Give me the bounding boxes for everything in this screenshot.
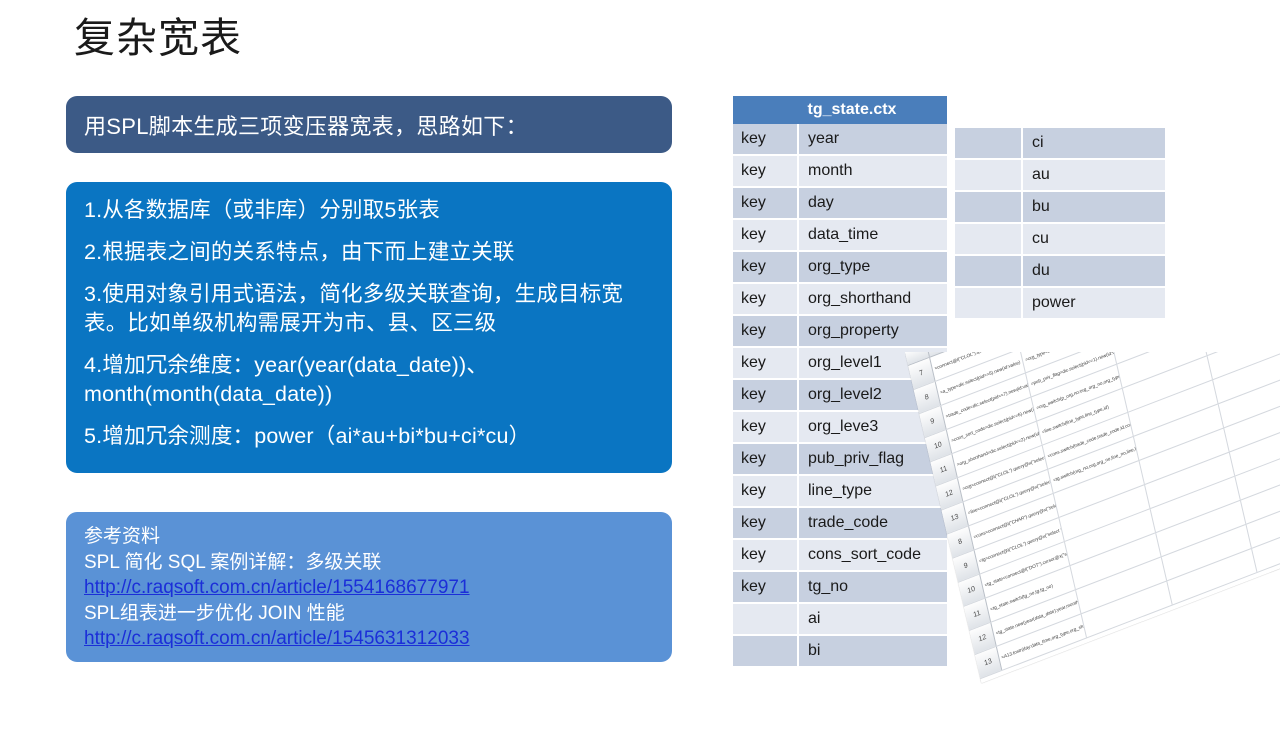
intro-callout: 用SPL脚本生成三项变压器宽表，思路如下： bbox=[66, 96, 672, 153]
cell-field-name: au bbox=[1023, 160, 1165, 190]
spreadsheet-cell bbox=[1060, 485, 1150, 541]
table-row: keydata_time bbox=[733, 220, 947, 252]
cell-key: key bbox=[733, 380, 799, 410]
spreadsheet-cell bbox=[1236, 444, 1280, 500]
spreadsheet-cell bbox=[1208, 352, 1280, 379]
table-row: keyorg_level1 bbox=[733, 348, 947, 380]
table-row: ci bbox=[955, 128, 1165, 160]
step-item-3: 3.使用对象引用式语法，简化多级关联查询，生成目标宽表。比如单级机构需展开为市、… bbox=[84, 280, 654, 338]
spreadsheet-cell bbox=[1202, 352, 1280, 355]
table-row: keyline_type bbox=[733, 476, 947, 508]
spreadsheet-cell: =line.switch(line_type,line_type,id) bbox=[1038, 389, 1128, 445]
step-item-5: 5.增加冗余测度：power（ai*au+bi*bu+ci*cu） bbox=[84, 422, 654, 451]
spreadsheet-cell bbox=[1117, 352, 1207, 388]
page-title: 复杂宽表 bbox=[74, 12, 242, 64]
spreadsheet-row: 13=A13.tostr(day:data_time,org_type,org_… bbox=[975, 483, 1280, 679]
cell-key: key bbox=[733, 220, 799, 250]
spreadsheet-rows: 7=connect@l("CLOL").query@x("select * fr… bbox=[908, 352, 1280, 679]
spreadsheet-row: 12=tg_state.new(year(data_date):year,mon… bbox=[969, 459, 1280, 655]
cell-field-name: pub_priv_flag bbox=[799, 444, 947, 474]
references-callout: 参考资料 SPL 简化 SQL 案例详解：多级关联 http://c.raqso… bbox=[66, 512, 672, 662]
cell-field-name: org_level2 bbox=[799, 380, 947, 410]
cell-key: key bbox=[733, 124, 799, 154]
spreadsheet-row: 9=tg=connect@l("CLOL").query@x("select *… bbox=[953, 387, 1280, 583]
cell-key bbox=[955, 160, 1023, 190]
spreadsheet-row: 10=cons_sort_code=dic.select(pid==6).new… bbox=[925, 352, 1280, 462]
cell-key: key bbox=[733, 508, 799, 538]
table-row: ai bbox=[733, 604, 947, 636]
spreadsheet-cell: =a_type=dic.select(pid==5).new(id:value) bbox=[936, 352, 1026, 405]
schema-table-secondary: ciaubucudupower bbox=[955, 128, 1165, 320]
spreadsheet-cell bbox=[1213, 352, 1280, 403]
schema-table-body: keyyearkeymonthkeydaykeydata_timekeyorg_… bbox=[733, 124, 947, 668]
table-row: cu bbox=[955, 224, 1165, 256]
table-row: keyday bbox=[733, 188, 947, 220]
table-row: keyyear bbox=[733, 124, 947, 156]
cell-field-name: bi bbox=[799, 636, 947, 666]
spreadsheet-row: 10=tg_state=connect@l("DOT").cursor@x("s… bbox=[958, 411, 1280, 607]
spreadsheet-cell bbox=[1071, 533, 1161, 589]
table-row: keymonth bbox=[733, 156, 947, 188]
table-row: keyorg_type bbox=[733, 252, 947, 284]
cell-field-name: cons_sort_code bbox=[799, 540, 947, 570]
spreadsheet-cell bbox=[1219, 371, 1280, 427]
table-row: keyorg_property bbox=[733, 316, 947, 348]
table-row: keycons_sort_code bbox=[733, 540, 947, 572]
table-row: keyorg_shorthand bbox=[733, 284, 947, 316]
cell-field-name: day bbox=[799, 188, 947, 218]
spreadsheet-cell: =tg=connect@l("CLOL").query@x("select * … bbox=[975, 518, 1065, 574]
cell-field-name: cu bbox=[1023, 224, 1165, 254]
spreadsheet-cell: =cons_sort_code=dic.select(pid==6).new(i… bbox=[947, 397, 1037, 453]
spreadsheet-row-header: 11 bbox=[964, 599, 991, 630]
reference-link-1[interactable]: http://c.raqsoft.com.cn/article/15541686… bbox=[84, 575, 654, 601]
spreadsheet-cell bbox=[1162, 525, 1252, 581]
cell-field-name: data_time bbox=[799, 220, 947, 250]
cell-key: key bbox=[733, 540, 799, 570]
spreadsheet-row: 8=cons=connect@l("CHAR").query@x("select… bbox=[947, 363, 1280, 559]
table-row: keytg_no bbox=[733, 572, 947, 604]
spreadsheet-cell: =tg_state=connect@l("DOT").cursor@x("sel… bbox=[980, 542, 1070, 598]
cell-key bbox=[955, 192, 1023, 222]
spreadsheet-cell: =org_shorthand=dic.select(pid==2).new(id… bbox=[952, 421, 1042, 477]
spreadsheet-row: 11=org_shorthand=dic.select(pid==2).new(… bbox=[930, 352, 1280, 486]
cell-key: key bbox=[733, 476, 799, 506]
cell-field-name: bu bbox=[1023, 192, 1165, 222]
spreadsheet-row: 12=org=connect@l("CLOL").query@x("select… bbox=[936, 352, 1280, 511]
cell-key: key bbox=[733, 188, 799, 218]
table-row: bi bbox=[733, 636, 947, 668]
cell-field-name: tg_no bbox=[799, 572, 947, 602]
spreadsheet-row: 7=connect@l("CLOL").query@x("select * fr… bbox=[908, 352, 1280, 390]
cell-field-name: org_level1 bbox=[799, 348, 947, 378]
cell-key: key bbox=[733, 156, 799, 186]
spreadsheet-cell bbox=[1241, 468, 1280, 524]
spreadsheet-row-header: 13 bbox=[975, 647, 1002, 678]
spreadsheet-cell bbox=[1145, 452, 1235, 508]
cell-field-name: ai bbox=[799, 604, 947, 634]
spreadsheet-row: 9=trade_code=dic.select(pid==7).new(id:v… bbox=[919, 352, 1280, 438]
cell-field-name: power bbox=[1023, 288, 1165, 318]
cell-field-name: trade_code bbox=[799, 508, 947, 538]
cell-key bbox=[733, 604, 799, 634]
table-row: keyorg_leve3 bbox=[733, 412, 947, 444]
cell-field-name: org_property bbox=[799, 316, 947, 346]
cell-key: key bbox=[733, 444, 799, 474]
spreadsheet-cell bbox=[1065, 509, 1155, 565]
cell-key bbox=[955, 224, 1023, 254]
references-heading: 参考资料 bbox=[84, 524, 654, 550]
cell-field-name: org_type bbox=[799, 252, 947, 282]
spreadsheet-cell: =trade_code=dic.select(pid==7).new(id:va… bbox=[941, 373, 1031, 429]
cell-key bbox=[733, 636, 799, 666]
table-row: keytrade_code bbox=[733, 508, 947, 540]
cell-key: key bbox=[733, 316, 799, 346]
spreadsheet-row-header: 10 bbox=[958, 574, 985, 605]
spreadsheet-cell bbox=[1054, 461, 1144, 517]
spreadsheet-cell bbox=[1128, 380, 1218, 436]
spreadsheet-row: 8=a_type=dic.select(pid==5).new(id:value… bbox=[914, 352, 1280, 414]
spreadsheet-cell: =pub_priv_flag=dic.select(pid==1).new(id… bbox=[1026, 352, 1116, 396]
intro-text: 用SPL脚本生成三项变压器宽表，思路如下： bbox=[84, 109, 528, 141]
spreadsheet-cell: =A13.tostr(day:data_time,org_type,org_sh… bbox=[997, 614, 1087, 670]
cell-field-name: ci bbox=[1023, 128, 1165, 158]
table-row: keyorg_level2 bbox=[733, 380, 947, 412]
schema-table-title: tg_state.ctx bbox=[733, 96, 947, 124]
spreadsheet-row-header: 9 bbox=[953, 550, 980, 581]
reference-label-1: SPL 简化 SQL 案例详解：多级关联 bbox=[84, 550, 654, 576]
cell-field-name: du bbox=[1023, 256, 1165, 286]
cell-key bbox=[955, 128, 1023, 158]
spreadsheet-cell: =cons=connect@l("CHAR").query@x("select … bbox=[969, 494, 1059, 550]
spreadsheet-row-header: 8 bbox=[947, 526, 974, 557]
reference-label-2: SPL组表进一步优化 JOIN 性能 bbox=[84, 601, 654, 627]
cell-key bbox=[955, 256, 1023, 286]
schema-table-primary: tg_state.ctx keyyearkeymonthkeydaykeydat… bbox=[733, 96, 947, 668]
cell-key: key bbox=[733, 572, 799, 602]
steps-callout: 1.从各数据库（或非库）分别取5张表 2.根据表之间的关系特点，由下而上建立关联… bbox=[66, 182, 672, 473]
spreadsheet-grid: ABCDE 7=connect@l("CLOL").query@x("selec… bbox=[905, 352, 1280, 683]
spreadsheet-cell bbox=[1112, 352, 1202, 364]
table-row: keypub_priv_flag bbox=[733, 444, 947, 476]
cell-key: key bbox=[733, 412, 799, 442]
cell-field-name: month bbox=[799, 156, 947, 186]
cell-key: key bbox=[733, 252, 799, 282]
spreadsheet-cell: =tg_state.new(year(data_date):year,month… bbox=[991, 590, 1081, 646]
spreadsheet-cell: =org=connect@l("CLOL").query@x("select *… bbox=[958, 445, 1048, 501]
spreadsheet-cell: =org_switch(p_org,no:org_org_no,org_type… bbox=[1032, 365, 1122, 421]
step-item-4: 4.增加冗余维度：year(year(data_date))、month(mon… bbox=[84, 351, 654, 409]
spreadsheet-cell bbox=[1247, 492, 1280, 548]
spreadsheet-cell: =tg_state.switch(tg_no,tg,tg_no) bbox=[986, 566, 1076, 622]
spreadsheet-cell: =tg.switch(org_no,org,org_no,line_no,lin… bbox=[1049, 437, 1139, 493]
spreadsheet-cell bbox=[1167, 549, 1257, 605]
step-item-2: 2.根据表之间的关系特点，由下而上建立关联 bbox=[84, 238, 654, 267]
spreadsheet-column-headers: ABCDE bbox=[905, 352, 1280, 366]
table-row: bu bbox=[955, 192, 1165, 224]
spreadsheet-cell bbox=[1230, 420, 1280, 476]
schema-table-secondary-body: ciaubucudupower bbox=[955, 128, 1165, 320]
cell-key bbox=[955, 288, 1023, 318]
spreadsheet-cell bbox=[1076, 557, 1166, 613]
spreadsheet-screenshot: ABCDE 7=connect@l("CLOL").query@x("selec… bbox=[905, 352, 1280, 752]
spreadsheet-cell bbox=[1224, 396, 1280, 452]
spreadsheet-cell: =cons.switch(trade_code,trade_code,id,co… bbox=[1043, 413, 1133, 469]
cell-key: key bbox=[733, 284, 799, 314]
spreadsheet-cell bbox=[1134, 404, 1224, 460]
table-row: au bbox=[955, 160, 1165, 192]
spreadsheet-cell bbox=[1156, 500, 1246, 556]
cell-field-name: org_shorthand bbox=[799, 284, 947, 314]
table-row: du bbox=[955, 256, 1165, 288]
spreadsheet-row: 13=line=connect@l("CLOL").query@x("selec… bbox=[942, 352, 1280, 535]
spreadsheet-cell bbox=[1139, 428, 1229, 484]
spreadsheet-cell: =org_type=dic.select(pid==1).new(id:valu… bbox=[1021, 352, 1111, 372]
reference-link-2[interactable]: http://c.raqsoft.com.cn/article/15456313… bbox=[84, 626, 654, 652]
cell-key: key bbox=[733, 348, 799, 378]
cell-field-name: line_type bbox=[799, 476, 947, 506]
spreadsheet-row-header: 12 bbox=[969, 623, 996, 654]
cell-field-name: year bbox=[799, 124, 947, 154]
step-item-1: 1.从各数据库（或非库）分别取5张表 bbox=[84, 196, 654, 225]
spreadsheet-cell bbox=[1150, 476, 1240, 532]
spreadsheet-cell bbox=[1252, 516, 1280, 572]
spreadsheet-row: 11=tg_state.switch(tg_no,tg,tg_no) bbox=[964, 435, 1280, 631]
table-row: power bbox=[955, 288, 1165, 320]
spreadsheet-cell bbox=[1123, 356, 1213, 412]
spreadsheet-cell bbox=[1082, 581, 1172, 637]
cell-field-name: org_leve3 bbox=[799, 412, 947, 442]
spreadsheet-cell: =line=connect@l("CLOL").query@x("select … bbox=[964, 469, 1054, 525]
